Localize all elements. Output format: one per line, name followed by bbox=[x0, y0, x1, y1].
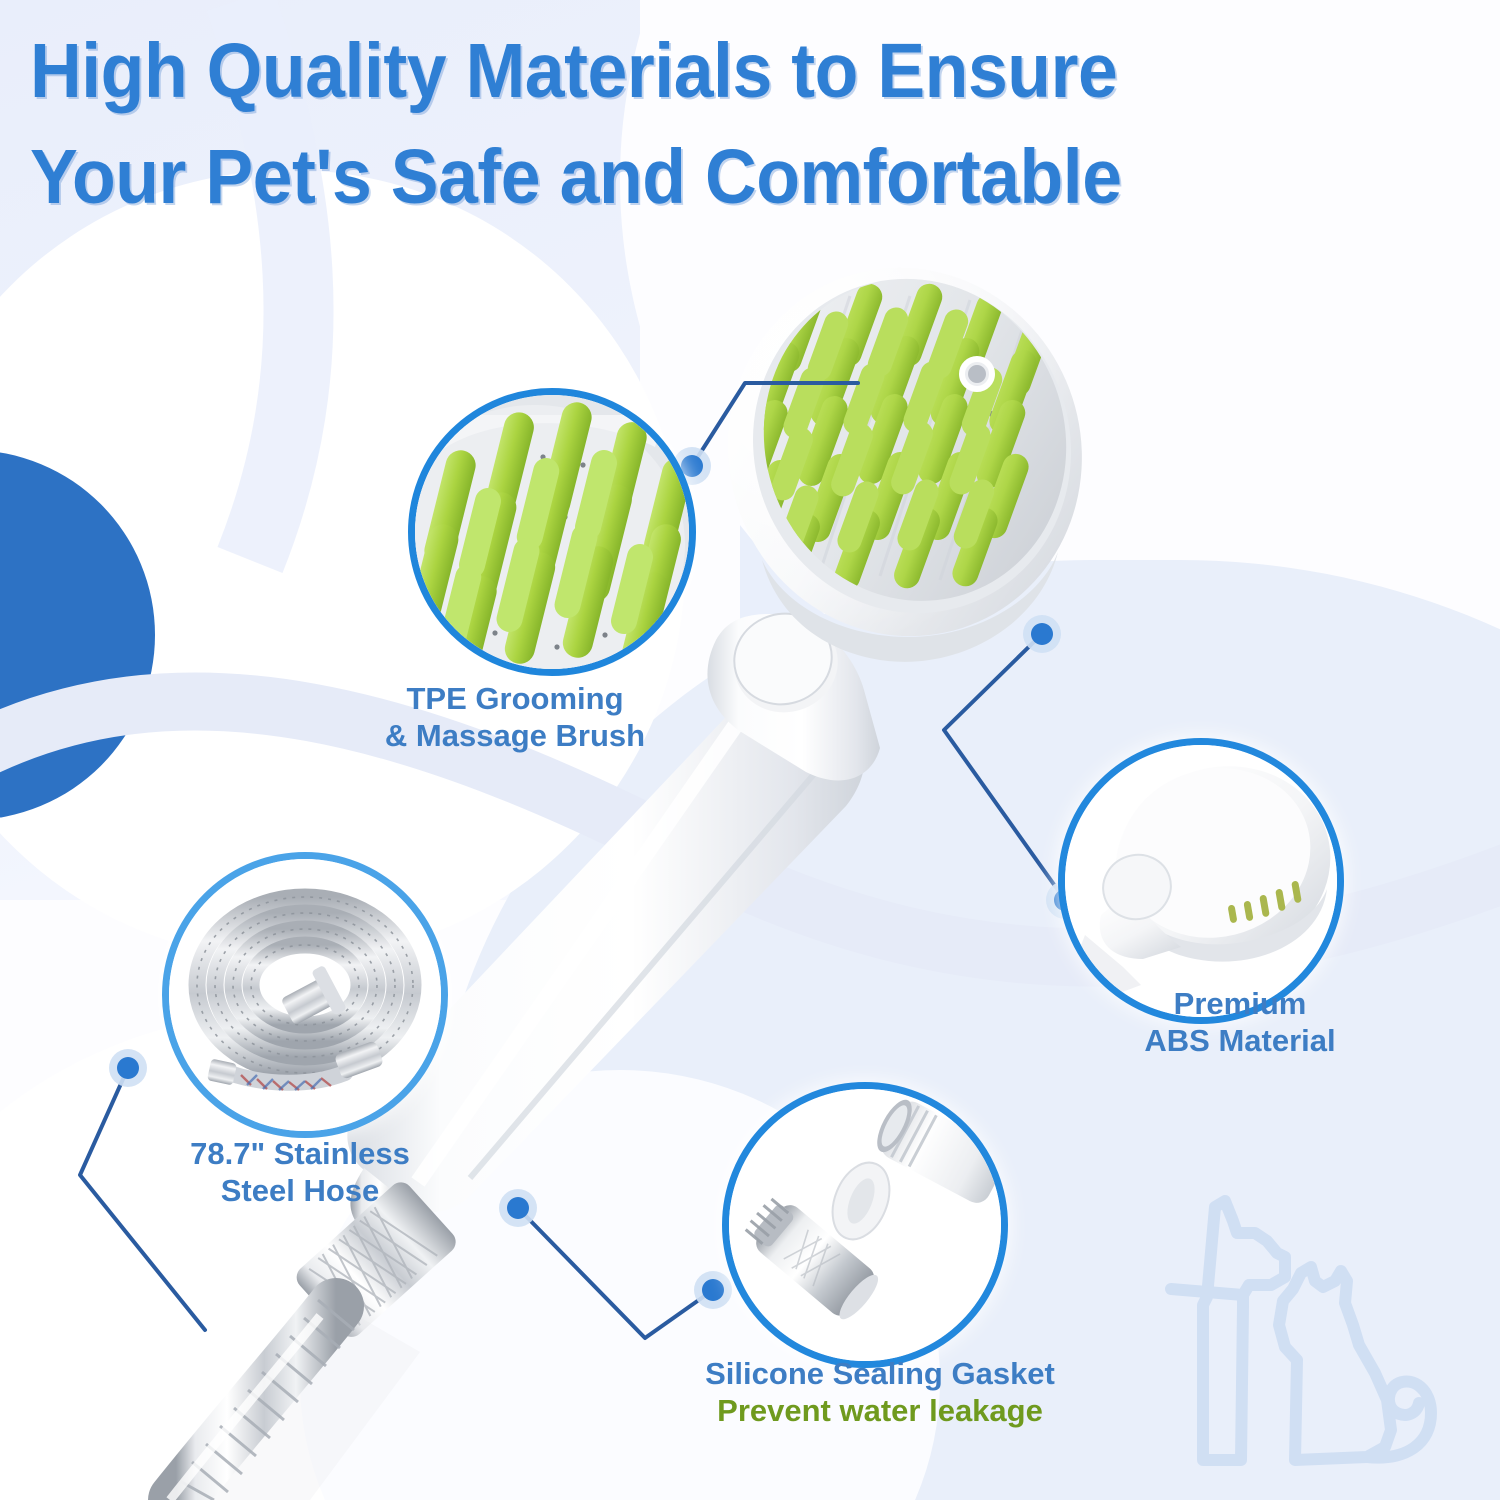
hose-label-line-1: 78.7" Stainless bbox=[100, 1135, 500, 1172]
coiled-hose-icon bbox=[169, 859, 441, 1131]
brush-label-line-1: TPE Grooming bbox=[300, 680, 730, 717]
infographic-canvas: High Quality Materials to Ensure Your Pe… bbox=[0, 0, 1500, 1500]
brush-label-line-2: & Massage Brush bbox=[300, 717, 730, 754]
gasket-label-line-1: Silicone Sealing Gasket bbox=[620, 1355, 1140, 1392]
callout-circle-brush bbox=[408, 388, 696, 676]
callout-label-abs: Premium ABS Material bbox=[1060, 985, 1420, 1059]
showerhead-back-icon bbox=[1065, 745, 1337, 1017]
callout-circle-hose bbox=[162, 852, 448, 1138]
callout-circle-gasket bbox=[722, 1082, 1008, 1368]
gasket-connector-icon bbox=[729, 1089, 1001, 1361]
magnified-bristles-icon bbox=[415, 395, 689, 669]
callout-label-gasket: Silicone Sealing Gasket Prevent water le… bbox=[620, 1355, 1140, 1429]
callout-label-hose: 78.7" Stainless Steel Hose bbox=[100, 1135, 500, 1209]
headline-line-2: Your Pet's Safe and Comfortable bbox=[30, 124, 1165, 230]
hose-label-line-2: Steel Hose bbox=[100, 1172, 500, 1209]
callout-circle-abs bbox=[1058, 738, 1344, 1024]
headline-line-1: High Quality Materials to Ensure bbox=[30, 18, 1165, 124]
headline: High Quality Materials to Ensure Your Pe… bbox=[30, 18, 1165, 231]
gasket-label-line-2: Prevent water leakage bbox=[620, 1392, 1140, 1429]
callout-label-brush: TPE Grooming & Massage Brush bbox=[300, 680, 730, 754]
abs-label-line-2: ABS Material bbox=[1060, 1022, 1420, 1059]
abs-label-line-1: Premium bbox=[1060, 985, 1420, 1022]
